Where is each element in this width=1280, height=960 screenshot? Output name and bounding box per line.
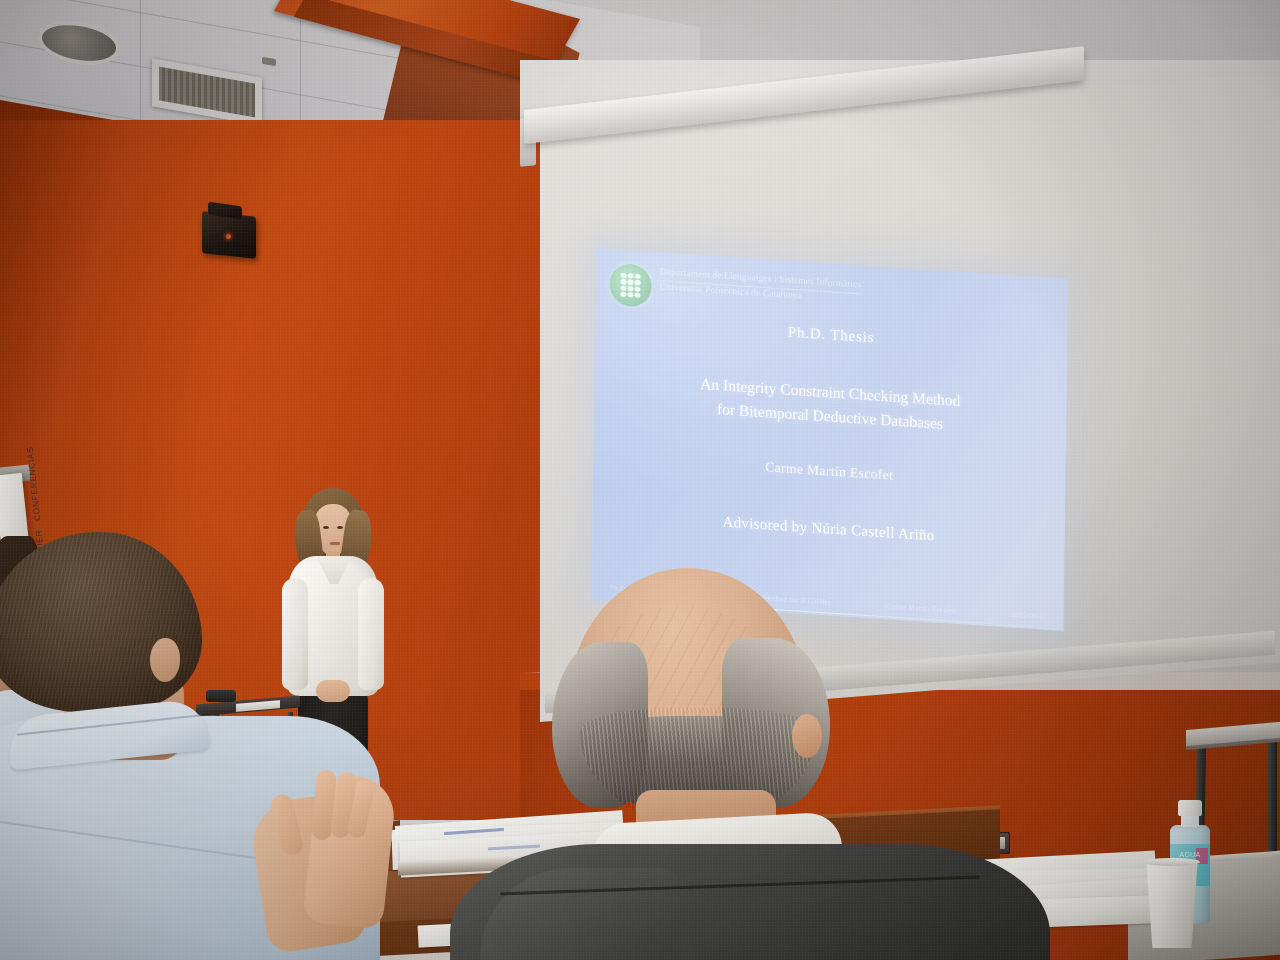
hair-texture	[0, 532, 202, 712]
table-leg	[1268, 742, 1277, 860]
clasped-hands	[248, 770, 438, 960]
audience-left-ear	[150, 638, 180, 682]
lecture-room-photo: Departament de Llenguatges i Sistemes In…	[0, 0, 1280, 960]
bottle-cap[interactable]	[1178, 800, 1202, 816]
paper-cup-rim	[1144, 858, 1200, 866]
paper-cup[interactable]	[1144, 860, 1200, 948]
speaker-power-led-icon	[226, 234, 231, 239]
slide-advisor: Advisored by Núria Castell Ariño	[592, 506, 1064, 554]
audience-person-center	[440, 568, 1060, 960]
audience-ear	[792, 714, 822, 758]
